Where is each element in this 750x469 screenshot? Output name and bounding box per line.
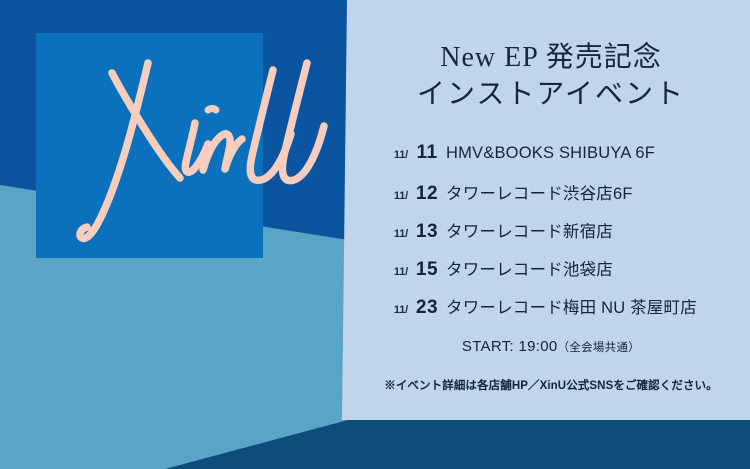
logo-backdrop-square (36, 33, 263, 258)
title-line-1: New EP 発売記念 (417, 40, 685, 75)
schedule-month: 11/ (386, 190, 408, 202)
schedule-month: 11/ (386, 304, 408, 316)
schedule-day: 23 (408, 297, 446, 319)
schedule-day: 11 (408, 142, 446, 164)
schedule-venue: タワーレコード梅田 NU 茶屋町店 (446, 294, 697, 318)
start-time-label: START: 19:00 (462, 338, 558, 355)
schedule-venue: HMV&BOOKS SHIBUYA 6F (446, 144, 655, 163)
schedule-row: 11/ 15 タワーレコード池袋店 (386, 256, 750, 294)
disclaimer-note: ※イベント詳細は各店舗HP／XinU公式SNSをご確認ください。 (384, 377, 718, 393)
schedule-row: 11/ 12 タワーレコード渋谷店6F (386, 180, 750, 218)
schedule-day: 15 (408, 259, 446, 281)
schedule-list: 11/ 11 HMV&BOOKS SHIBUYA 6F 11/ 12 タワーレコ… (352, 142, 750, 332)
schedule-row: 11/ 13 タワーレコード新宿店 (386, 218, 750, 256)
title-block: New EP 発売記念 インストアイベント (417, 40, 685, 116)
schedule-month: 11/ (386, 149, 408, 161)
info-panel: New EP 発売記念 インストアイベント 11/ 11 HMV&BOOKS S… (352, 0, 750, 420)
schedule-venue: タワーレコード池袋店 (446, 256, 613, 280)
start-time-note: （全会場共通） (557, 342, 640, 354)
schedule-month: 11/ (386, 228, 408, 240)
schedule-day: 12 (408, 183, 446, 205)
schedule-venue: タワーレコード渋谷店6F (446, 180, 633, 204)
poster-canvas: New EP 発売記念 インストアイベント 11/ 11 HMV&BOOKS S… (0, 0, 750, 469)
schedule-venue: タワーレコード新宿店 (446, 218, 613, 242)
start-time-line: START: 19:00（全会場共通） (462, 338, 640, 355)
schedule-month: 11/ (386, 266, 408, 278)
schedule-row: 11/ 11 HMV&BOOKS SHIBUYA 6F (386, 142, 750, 180)
schedule-row: 11/ 23 タワーレコード梅田 NU 茶屋町店 (386, 294, 750, 332)
title-line-2: インストアイベント (417, 75, 685, 116)
schedule-day: 13 (408, 221, 446, 243)
